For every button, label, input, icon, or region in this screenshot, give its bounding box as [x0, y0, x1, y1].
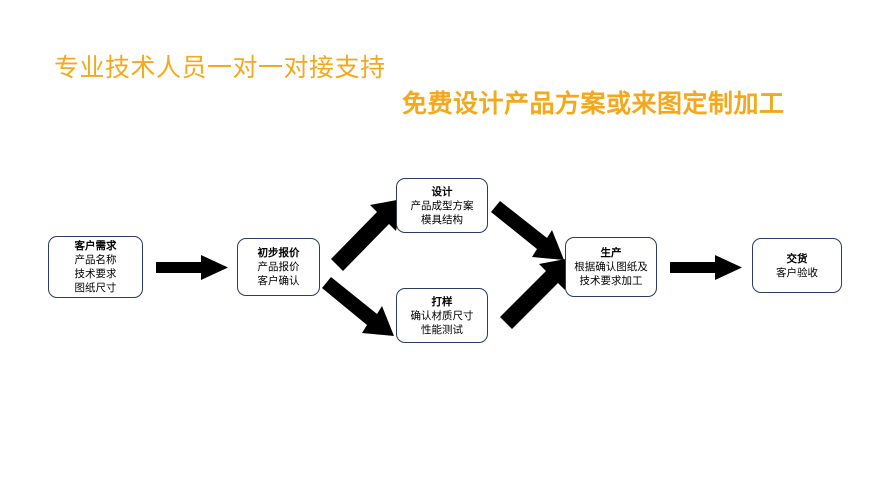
arrow-sample-to-produce: [500, 258, 571, 329]
node-title: 生产: [601, 246, 622, 260]
node-title: 打样: [432, 295, 453, 309]
flow-node-sample[interactable]: 打样 确认材质尺寸 性能测试: [396, 288, 488, 343]
node-detail-line: 产品成型方案: [411, 199, 474, 213]
node-detail-line: 客户确认: [258, 274, 300, 288]
node-detail-line: 技术要求: [75, 267, 117, 281]
arrow-design-to-produce: [491, 201, 564, 260]
headline-secondary: 免费设计产品方案或来图定制加工: [402, 89, 785, 119]
flow-node-design[interactable]: 设计 产品成型方案 模具结构: [396, 178, 488, 233]
node-detail-line: 确认材质尺寸: [411, 309, 474, 323]
node-detail-line: 性能测试: [421, 323, 463, 337]
flow-node-delivery[interactable]: 交货 客户验收: [752, 238, 842, 293]
headline-primary: 专业技术人员一对一对接支持: [54, 53, 386, 83]
node-title: 交货: [787, 252, 808, 266]
arrow-quote-to-sample: [322, 277, 394, 336]
flow-node-produce[interactable]: 生产 根据确认图纸及 技术要求加工: [565, 237, 657, 297]
node-detail-line: 根据确认图纸及: [574, 260, 648, 274]
arrow-quote-to-design: [331, 199, 402, 271]
node-detail-line: 模具结构: [421, 213, 463, 227]
node-detail-line: 技术要求加工: [580, 274, 643, 288]
flow-node-demand[interactable]: 客户需求 产品名称 技术要求 图纸尺寸: [48, 236, 143, 298]
node-detail-line: 产品报价: [258, 260, 300, 274]
arrow-demand-to-quote: [156, 255, 228, 280]
flow-node-quote[interactable]: 初步报价 产品报价 客户确认: [237, 238, 320, 296]
node-title: 设计: [432, 185, 453, 199]
arrow-produce-to-delivery: [670, 255, 742, 280]
slide-canvas: 专业技术人员一对一对接支持 免费设计产品方案或来图定制加工 客户需求: [0, 0, 892, 499]
node-detail-line: 产品名称: [75, 253, 117, 267]
node-detail-line: 图纸尺寸: [75, 281, 117, 295]
node-title: 初步报价: [258, 246, 300, 260]
node-title: 客户需求: [75, 239, 117, 253]
node-detail-line: 客户验收: [776, 266, 818, 280]
